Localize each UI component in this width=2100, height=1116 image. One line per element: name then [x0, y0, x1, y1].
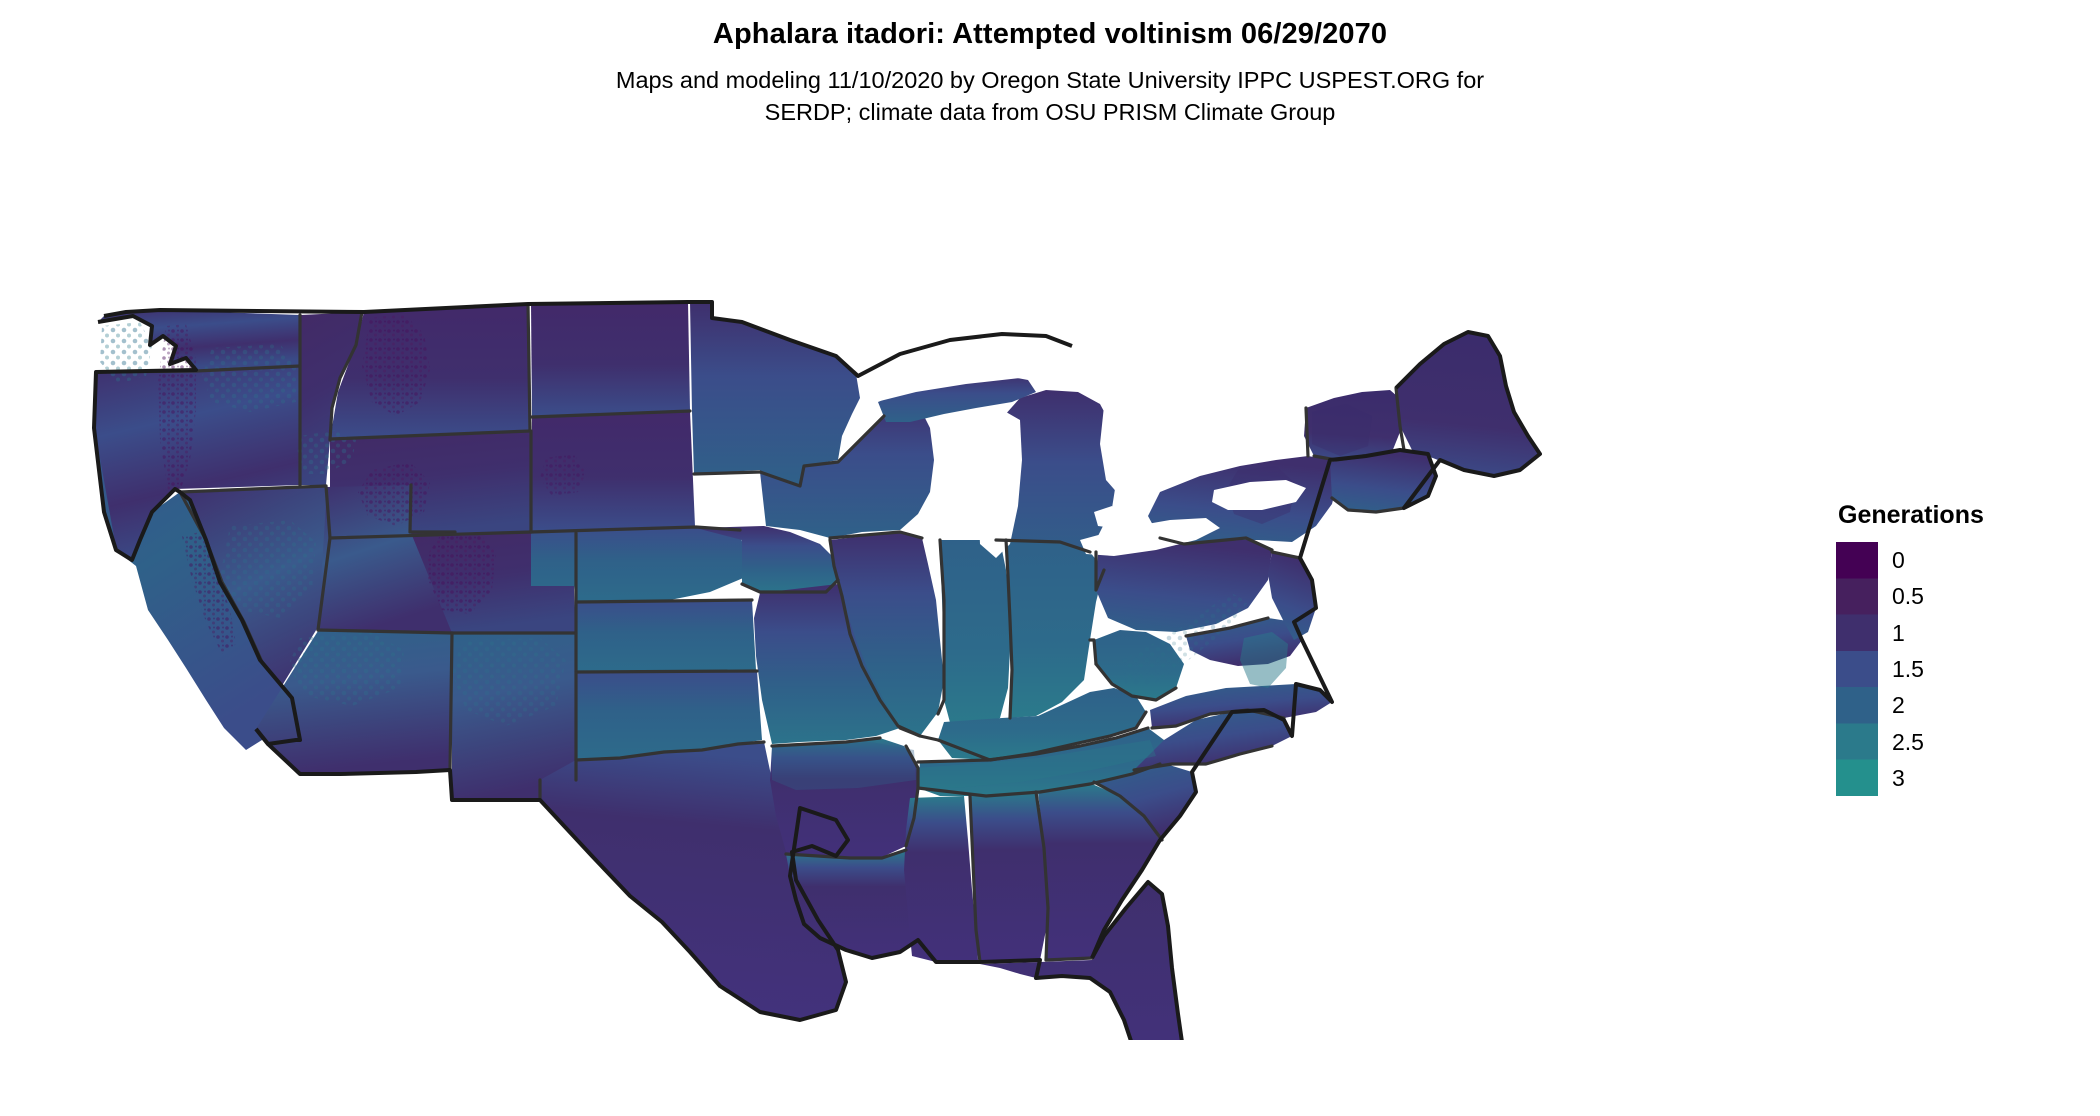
legend-colorbar [1836, 542, 1878, 796]
raster-ohio [1006, 540, 1104, 718]
texture-columbia-basin [202, 344, 298, 412]
raster-kansas [576, 600, 756, 672]
subtitle-line-1: Maps and modeling 11/10/2020 by Oregon S… [470, 64, 1630, 96]
legend-tick-labels: 00.511.522.53 [1892, 542, 2022, 796]
border-ny-vt [1306, 408, 1308, 456]
border-wv-oh-line [1090, 640, 1096, 664]
legend-tick: 0 [1892, 549, 1905, 572]
legend-tick: 2 [1892, 694, 1905, 717]
border-ks-ok [576, 671, 757, 672]
legend-body: 00.511.522.53 [1836, 542, 2076, 796]
raster-minnesota [690, 302, 860, 488]
legend-tick: 1 [1892, 622, 1905, 645]
legend-tick: 3 [1892, 767, 1905, 790]
lake-huron [1100, 390, 1166, 496]
legend-tick: 0.5 [1892, 585, 1924, 608]
texture-ozark-band [772, 740, 916, 790]
legend-title: Generations [1838, 500, 2076, 530]
map-canvas [0, 140, 1800, 1040]
page-title: Aphalara itadori: Attempted voltinism 06… [0, 14, 2100, 54]
legend: Generations 00.511.522.53 [1836, 500, 2076, 796]
legend-tick: 1.5 [1892, 658, 1924, 681]
border-mn-ia [694, 472, 760, 474]
border-ne-ks [576, 600, 752, 602]
page-subtitle: Maps and modeling 11/10/2020 by Oregon S… [470, 64, 1630, 128]
voltinism-map-page: Aphalara itadori: Attempted voltinism 06… [0, 0, 2100, 1116]
subtitle-line-2: SERDP; climate data from OSU PRISM Clima… [470, 96, 1630, 128]
raster-alabama [970, 792, 1048, 962]
raster-nodak [531, 302, 690, 416]
texture-chesapeake [1240, 632, 1288, 688]
raster-indiana [940, 540, 1010, 730]
title-block: Aphalara itadori: Attempted voltinism 06… [0, 14, 2100, 128]
us-voltinism-choropleth [0, 140, 1800, 1040]
legend-tick: 2.5 [1892, 731, 1924, 754]
border-az-nm [450, 633, 452, 772]
border-mt-nd [528, 304, 530, 430]
raster-mississippi [904, 796, 978, 962]
